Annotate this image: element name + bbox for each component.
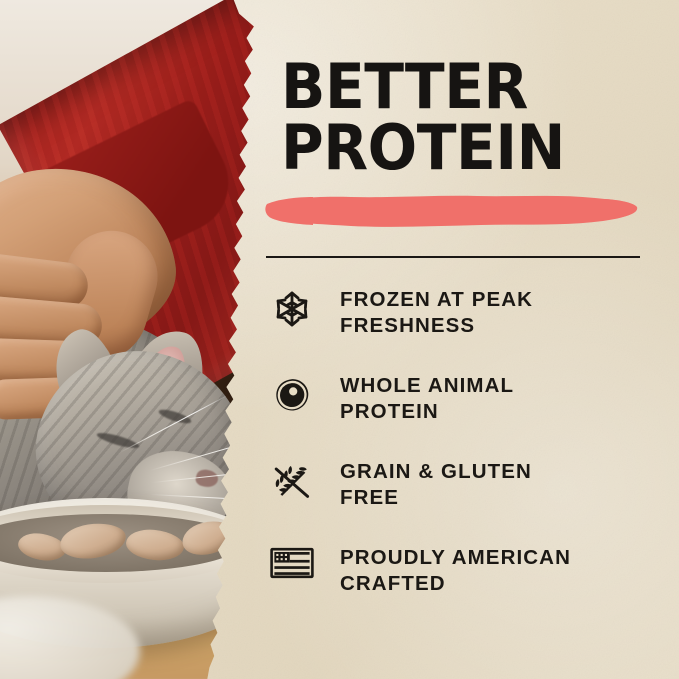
feature-item-frozen: FROZEN AT PEAK FRESHNESS [266, 285, 646, 371]
feature-item-american: PROUDLY AMERICAN CRAFTED [266, 543, 646, 629]
feature-line-2: FRESHNESS [340, 314, 475, 337]
product-feature-card: BETTER PROTEIN [0, 0, 679, 679]
steak-glyph [272, 375, 312, 415]
snowflake-icon [266, 285, 318, 329]
feature-item-grain-free: GRAIN & GLUTEN FREE [266, 457, 646, 543]
wheat-glyph [271, 461, 313, 503]
content-layer: BETTER PROTEIN [0, 0, 679, 679]
page-title: BETTER PROTEIN [281, 56, 638, 179]
feature-label: PROUDLY AMERICAN CRAFTED [340, 543, 571, 597]
horizontal-divider [266, 256, 640, 258]
flag-glyph [270, 547, 314, 579]
feature-line-1: FROZEN AT PEAK [340, 288, 533, 311]
feature-line-1: WHOLE ANIMAL [340, 374, 514, 397]
wheat-crossed-icon [266, 457, 318, 503]
feature-line-1: GRAIN & GLUTEN [340, 460, 532, 483]
feature-line-2: PROTEIN [340, 400, 439, 423]
headline-line-2: PROTEIN [281, 117, 638, 178]
feature-line-2: FREE [340, 486, 399, 509]
feature-list: FROZEN AT PEAK FRESHNESS WHOLE ANIMAL PR… [266, 285, 646, 629]
american-flag-icon [266, 543, 318, 579]
feature-label: WHOLE ANIMAL PROTEIN [340, 371, 514, 425]
feature-item-protein: WHOLE ANIMAL PROTEIN [266, 371, 646, 457]
feature-label: GRAIN & GLUTEN FREE [340, 457, 532, 511]
feature-line-1: PROUDLY AMERICAN [340, 546, 571, 569]
headline-line-1: BETTER [281, 56, 638, 117]
feature-label: FROZEN AT PEAK FRESHNESS [340, 285, 533, 339]
brush-stroke-accent [265, 191, 639, 229]
feature-line-2: CRAFTED [340, 572, 446, 595]
steak-icon [266, 371, 318, 415]
